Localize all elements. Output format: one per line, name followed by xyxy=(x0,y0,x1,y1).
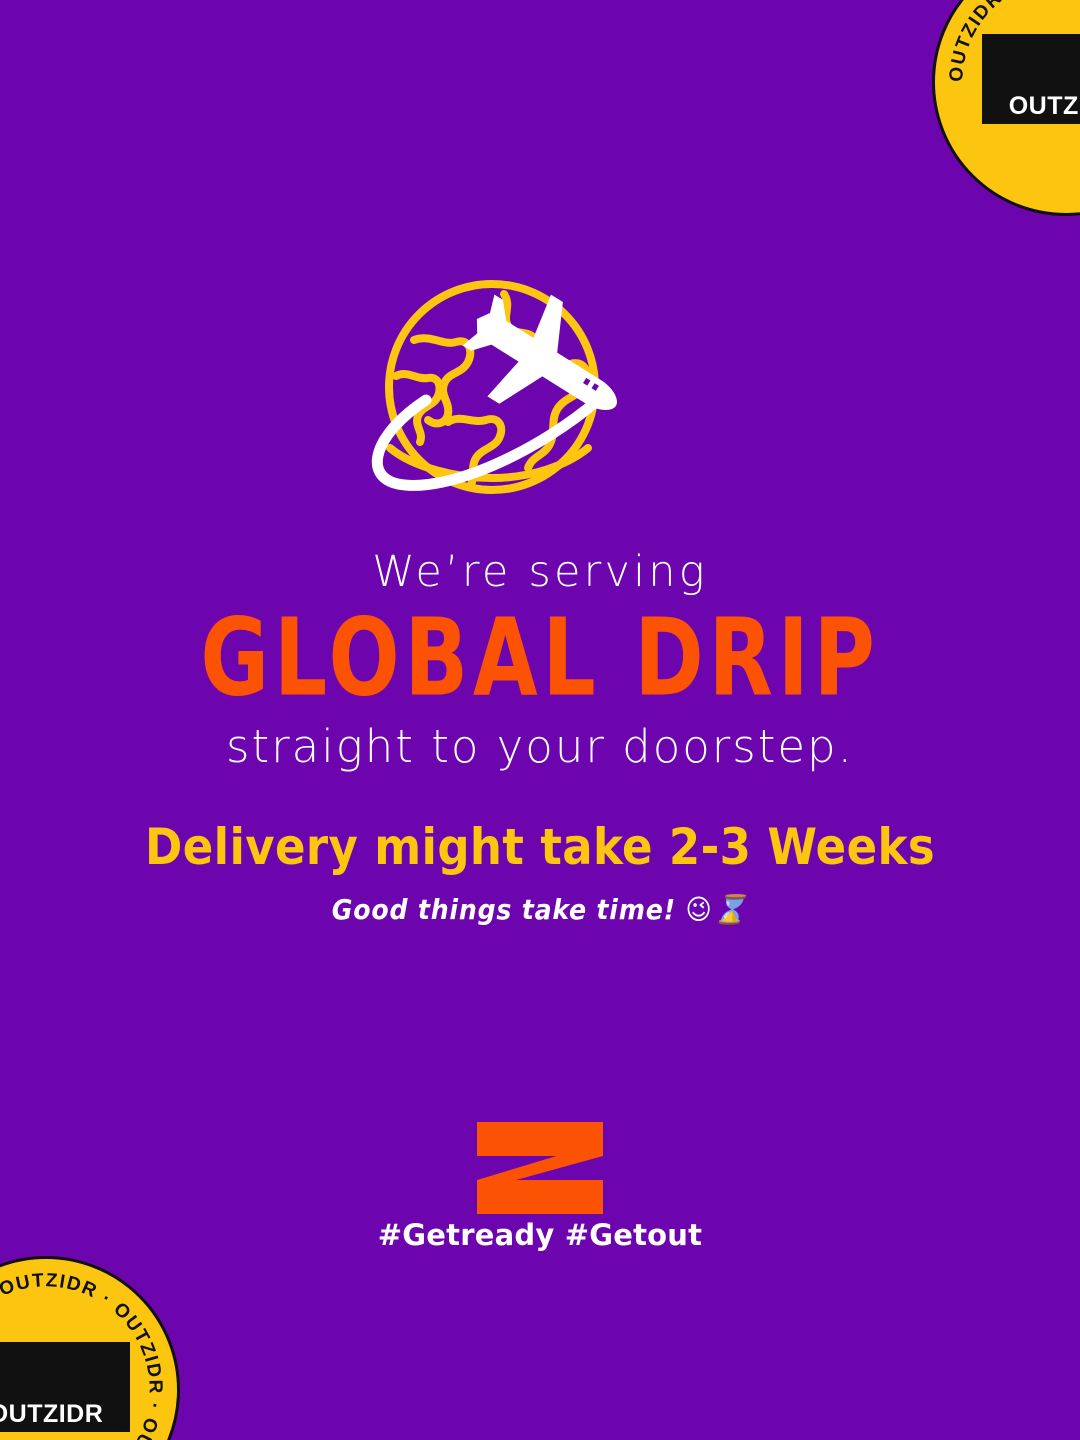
poster-canvas: OUTZIDR · OUTZIDR · OUTZIDR · OUTZIDR · … xyxy=(0,0,1080,1440)
badge-core-label: OUTZIDR xyxy=(0,1400,103,1428)
headline-main: GLOBAL DRIP xyxy=(32,605,1047,712)
delivery-notice: Delivery might take 2-3 Weeks xyxy=(0,820,1080,875)
orbit-trail-icon xyxy=(377,400,598,485)
delivery-block: Delivery might take 2-3 Weeks Good thing… xyxy=(0,820,1080,926)
outzidr-z-logo-icon xyxy=(472,1122,608,1214)
headline-block: We’re serving GLOBAL DRIP straight to yo… xyxy=(0,548,1080,772)
badge-core-logo-bottom-left: OUTZIDR xyxy=(0,1342,130,1438)
headline-eyebrow: We’re serving xyxy=(0,548,1080,597)
badge-core-logo-top-right: OUTZIDR xyxy=(982,34,1080,130)
headline-subline: straight to your doorstep. xyxy=(0,722,1080,772)
globe-airplane-icon xyxy=(352,272,718,514)
delivery-reassurance: Good things take time! 😉⌛ xyxy=(0,893,1080,926)
brand-badge-bottom-left: OUTZIDR · OUTZIDR · OUTZIDR · OUTZIDR · … xyxy=(0,1256,180,1440)
badge-core-label: OUTZIDR xyxy=(1009,92,1080,120)
footer-hashtags: #Getready #Getout xyxy=(0,1218,1080,1252)
brand-badge-top-right: OUTZIDR · OUTZIDR · OUTZIDR · OUTZIDR · … xyxy=(932,0,1080,216)
